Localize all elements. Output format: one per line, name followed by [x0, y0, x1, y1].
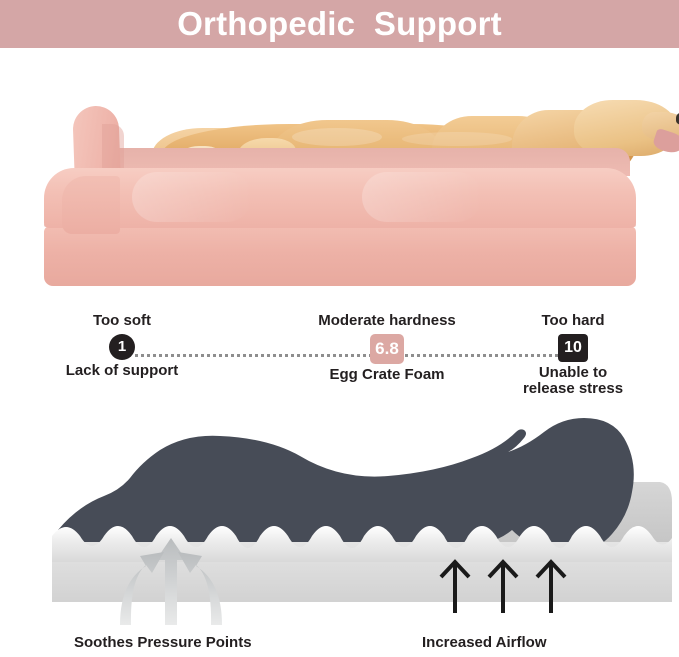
scale-stop-too-hard: Too hard 10 Unable to release stress — [498, 313, 648, 398]
scale-stop-bottom-label: Unable to release stress — [498, 365, 648, 399]
foam-diagram-svg — [0, 410, 679, 657]
scale-stop-too-soft: Too soft 1 Lack of support — [47, 313, 197, 379]
scale-badge-value-1: 1 — [109, 334, 135, 360]
caption-increased-airflow: Increased Airflow — [422, 634, 546, 651]
bed-left-corner — [62, 176, 120, 234]
scale-stop-top-label: Moderate hardness — [312, 313, 462, 330]
scale-stop-top-label: Too soft — [47, 313, 197, 330]
product-photo — [0, 48, 679, 300]
caption-soothes-pressure-points: Soothes Pressure Points — [74, 634, 252, 651]
scale-stop-bottom-label: Lack of support — [47, 363, 197, 380]
scale-badge-value-10: 10 — [558, 334, 588, 362]
foam-airflow-diagram: Soothes Pressure Points Increased Airflo… — [0, 410, 679, 657]
header-banner: Orthopedic Support — [0, 0, 679, 48]
bed-base-slab — [44, 226, 636, 286]
bed-sheen — [362, 172, 482, 222]
page-title: Orthopedic Support — [177, 7, 502, 40]
dog-fur-highlight — [292, 128, 382, 146]
scale-stop-moderate: Moderate hardness 6.8 Egg Crate Foam — [312, 313, 462, 383]
scale-stop-bottom-label: Egg Crate Foam — [312, 367, 462, 384]
scale-badge-value-6-8: 6.8 — [370, 334, 404, 364]
bed-sheen — [132, 172, 252, 222]
dog-fur-highlight — [402, 132, 512, 146]
hardness-scale: Too soft 1 Lack of support Moderate hard… — [0, 305, 679, 410]
scale-stop-top-label: Too hard — [498, 313, 648, 330]
dog-bed-illustration — [42, 76, 638, 288]
